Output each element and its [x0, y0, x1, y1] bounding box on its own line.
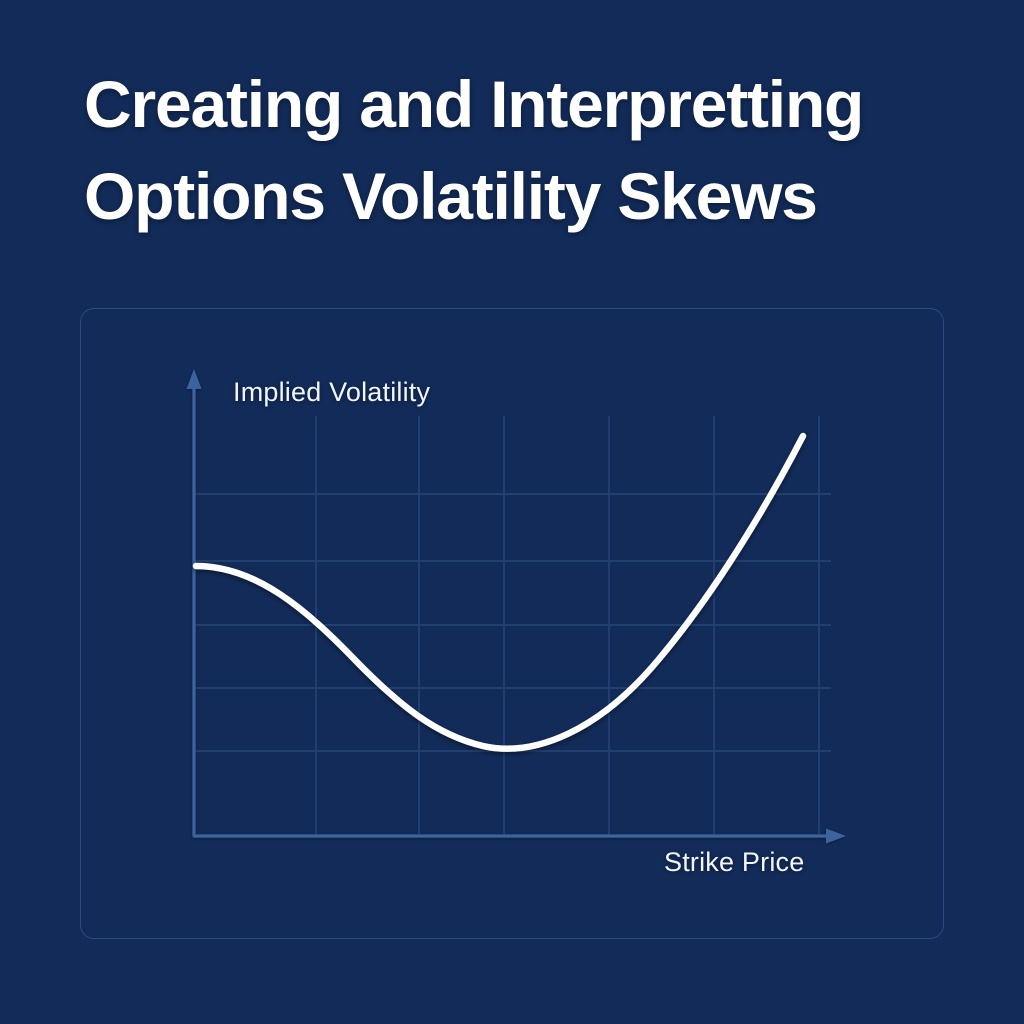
- volatility-skew-curve: [196, 436, 803, 749]
- chart-card: Implied Volatility Strike Price: [80, 308, 944, 939]
- volatility-skew-chart: Implied Volatility Strike Price: [81, 309, 945, 940]
- x-axis-label: Strike Price: [664, 847, 804, 878]
- chart-canvas: [81, 309, 945, 940]
- x-axis: [193, 829, 846, 844]
- y-axis: [187, 369, 202, 837]
- y-axis-label: Implied Volatility: [233, 377, 430, 408]
- page-title-line-1: Creating and Interpretting: [84, 58, 964, 150]
- page-title-line-2: Options Volatility Skews: [84, 150, 964, 242]
- page-title: Creating and Interpretting Options Volat…: [84, 58, 964, 242]
- chart-gridlines-horizontal: [194, 494, 831, 751]
